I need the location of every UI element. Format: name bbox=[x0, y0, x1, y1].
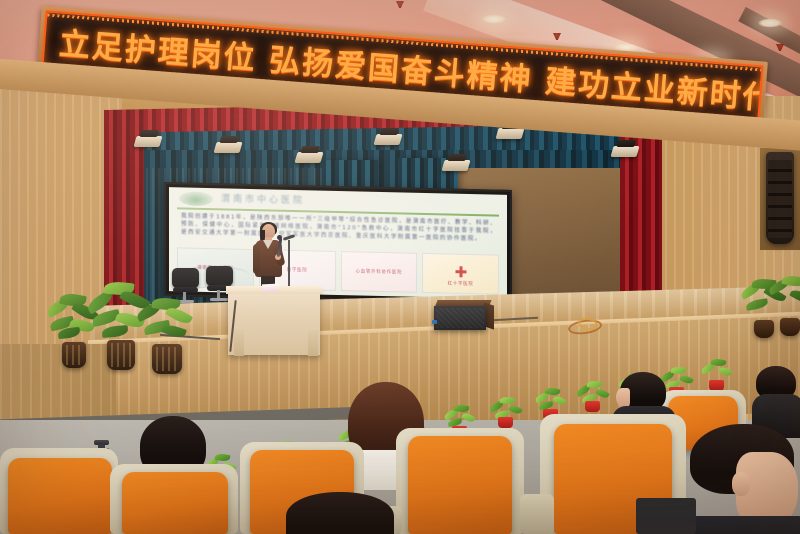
downlight-4 bbox=[757, 18, 783, 28]
auditorium-scene: 渭南市中心医院 我院创建于1881年，是陕西东部唯一一所“三级甲等”综合性急诊医… bbox=[0, 0, 800, 534]
chair-back bbox=[172, 268, 199, 288]
presenter-arm-left bbox=[253, 244, 260, 274]
floor-monitor-speaker bbox=[434, 300, 492, 330]
chair-foot bbox=[210, 298, 228, 301]
line-array-speaker bbox=[766, 152, 794, 244]
podium-notes bbox=[262, 284, 278, 293]
plant-pot bbox=[780, 318, 800, 336]
slide-picture-university: 心血管外科协作医院 bbox=[341, 251, 418, 293]
monitor-jack bbox=[432, 320, 437, 324]
plant-pot bbox=[107, 340, 135, 370]
seat-shadow-foreground bbox=[636, 498, 696, 534]
downlight-1 bbox=[481, 14, 507, 24]
stage-light-5 bbox=[441, 160, 470, 171]
small-plant bbox=[700, 357, 734, 391]
seat-cushion bbox=[408, 436, 512, 534]
stage-light-3 bbox=[294, 152, 323, 163]
plant-leaf bbox=[102, 325, 129, 338]
chair-back bbox=[206, 266, 233, 286]
podium-leg-left bbox=[234, 330, 244, 356]
seat-cushion bbox=[8, 458, 112, 534]
stage-light-2 bbox=[213, 142, 242, 153]
stage-chair-left[interactable] bbox=[172, 268, 200, 298]
plant-leaf bbox=[161, 323, 187, 340]
slide-body-text: 我院创建于1881年，是陕西东部唯一一所“三级甲等”综合性急诊医院，是渭南市医疗… bbox=[181, 212, 497, 243]
audience-seat[interactable] bbox=[110, 464, 242, 534]
plant-pot-red bbox=[585, 401, 600, 412]
large-plant-5 bbox=[768, 274, 800, 336]
microphone-capsule bbox=[277, 235, 282, 240]
monitor-grille bbox=[434, 306, 486, 330]
plant-pot-red bbox=[498, 417, 513, 428]
audience-seat[interactable] bbox=[396, 428, 528, 534]
person-hair bbox=[286, 492, 394, 534]
plant-pot bbox=[152, 344, 182, 374]
audience-person-foreground-left bbox=[286, 492, 398, 534]
slide-picture-redcross: 红十字医院 bbox=[422, 253, 499, 295]
red-cross-icon bbox=[455, 267, 466, 278]
person-face bbox=[616, 388, 630, 408]
small-plant bbox=[576, 378, 610, 412]
seat-armrest bbox=[520, 494, 554, 534]
slide-header-title: 渭南市中心医院 bbox=[221, 191, 305, 206]
stage-light-1 bbox=[133, 136, 162, 147]
plant-leaf bbox=[745, 298, 768, 311]
hospital-logo-icon bbox=[179, 191, 213, 206]
small-plant bbox=[489, 394, 523, 428]
plant-leaf bbox=[789, 287, 800, 305]
seat-cushion bbox=[122, 472, 228, 534]
slide-picture-caption: 心血管外科协作医院 bbox=[345, 268, 414, 276]
plant-pot bbox=[62, 342, 86, 368]
slide-picture-caption: 红十字医院 bbox=[426, 280, 495, 288]
person-ear bbox=[732, 472, 750, 496]
person-torso bbox=[682, 516, 800, 534]
large-plant-3 bbox=[136, 296, 198, 374]
podium-leg-right bbox=[308, 330, 318, 356]
audience-seat[interactable] bbox=[0, 448, 122, 534]
